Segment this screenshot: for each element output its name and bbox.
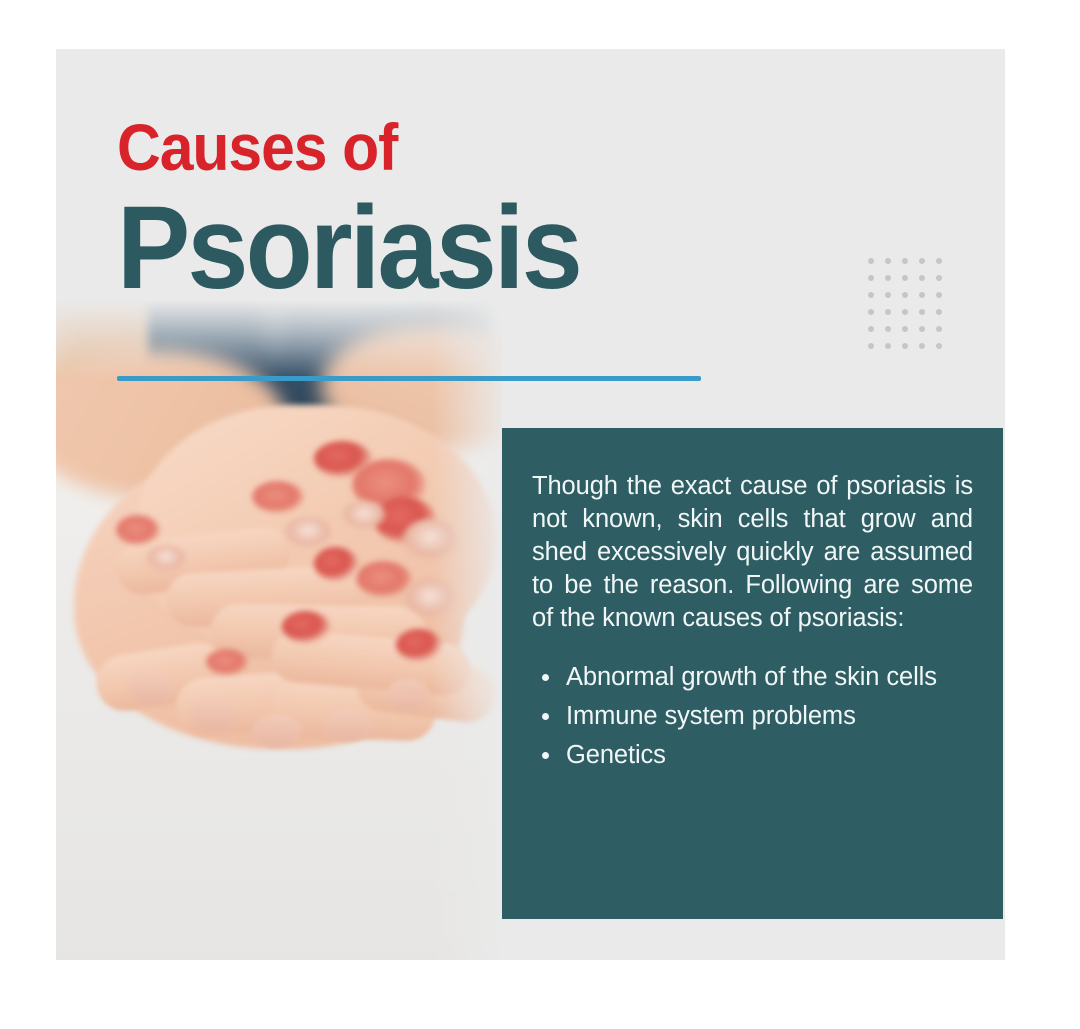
grid-dot bbox=[936, 343, 942, 349]
cause-list-item-label: Abnormal growth of the skin cells bbox=[566, 663, 937, 691]
bullet-icon bbox=[542, 674, 549, 681]
photo-lesion-8 bbox=[356, 561, 412, 597]
grid-dot bbox=[902, 326, 908, 332]
photo-lesion-11 bbox=[116, 515, 160, 545]
page-title: Causes of Psoriasis bbox=[117, 111, 777, 311]
grid-dot bbox=[936, 309, 942, 315]
title-line-psoriasis: Psoriasis bbox=[117, 185, 731, 311]
grid-dot bbox=[919, 258, 925, 264]
photo-lesion-6 bbox=[284, 517, 332, 547]
grid-dot bbox=[885, 258, 891, 264]
photo-lesion-10 bbox=[282, 611, 330, 643]
grid-dot bbox=[868, 258, 874, 264]
info-panel: Though the exact cause of psoriasis is n… bbox=[502, 428, 1003, 919]
grid-dot bbox=[936, 292, 942, 298]
photo-nail-1 bbox=[128, 671, 174, 705]
grid-dot bbox=[902, 275, 908, 281]
photo-lesion-12 bbox=[146, 545, 186, 571]
grid-dot bbox=[902, 343, 908, 349]
grid-dot bbox=[902, 292, 908, 298]
photo-lesion-5 bbox=[252, 481, 304, 513]
grid-dot bbox=[919, 275, 925, 281]
grid-dot bbox=[868, 275, 874, 281]
grid-dot bbox=[919, 343, 925, 349]
grid-dot bbox=[919, 292, 925, 298]
cause-list-item-label: Genetics bbox=[566, 741, 666, 769]
cause-list-item: Abnormal growth of the skin cells bbox=[536, 661, 973, 694]
photo-nail-2 bbox=[189, 697, 237, 731]
title-underline-rule bbox=[117, 376, 701, 381]
grid-dot bbox=[936, 275, 942, 281]
panel-intro-paragraph: Though the exact cause of psoriasis is n… bbox=[532, 470, 973, 635]
grid-dot bbox=[902, 309, 908, 315]
grid-dot bbox=[885, 326, 891, 332]
photo-nail-4 bbox=[324, 709, 372, 742]
grid-dot bbox=[868, 326, 874, 332]
grid-dot bbox=[919, 326, 925, 332]
photo-nail-3 bbox=[252, 714, 302, 748]
grid-dot bbox=[868, 292, 874, 298]
dot-grid-ornament bbox=[868, 258, 953, 360]
grid-dot bbox=[902, 258, 908, 264]
photo-lesion-15 bbox=[342, 501, 386, 529]
grid-dot bbox=[868, 343, 874, 349]
grid-dot bbox=[936, 326, 942, 332]
grid-dot bbox=[885, 275, 891, 281]
cause-list-item-label: Immune system problems bbox=[566, 702, 856, 730]
grid-dot bbox=[885, 309, 891, 315]
title-line-causes-of: Causes of bbox=[117, 111, 724, 183]
cause-list-item: Genetics bbox=[536, 739, 973, 772]
cause-list-item: Immune system problems bbox=[536, 700, 973, 733]
grid-dot bbox=[868, 309, 874, 315]
grid-dot bbox=[885, 343, 891, 349]
photo-lesion-7 bbox=[314, 547, 358, 581]
infographic-root: Causes of Psoriasis Though the exact cau… bbox=[0, 0, 1080, 1029]
bullet-icon bbox=[542, 713, 549, 720]
poster-canvas: Causes of Psoriasis Though the exact cau… bbox=[56, 49, 1005, 960]
photo-lesion-14 bbox=[206, 649, 248, 675]
grid-dot bbox=[936, 258, 942, 264]
grid-dot bbox=[885, 292, 891, 298]
photo-nail-5 bbox=[386, 679, 430, 711]
grid-dot bbox=[919, 309, 925, 315]
bullet-icon bbox=[542, 752, 549, 759]
causes-list: Abnormal growth of the skin cells Immune… bbox=[532, 661, 973, 772]
